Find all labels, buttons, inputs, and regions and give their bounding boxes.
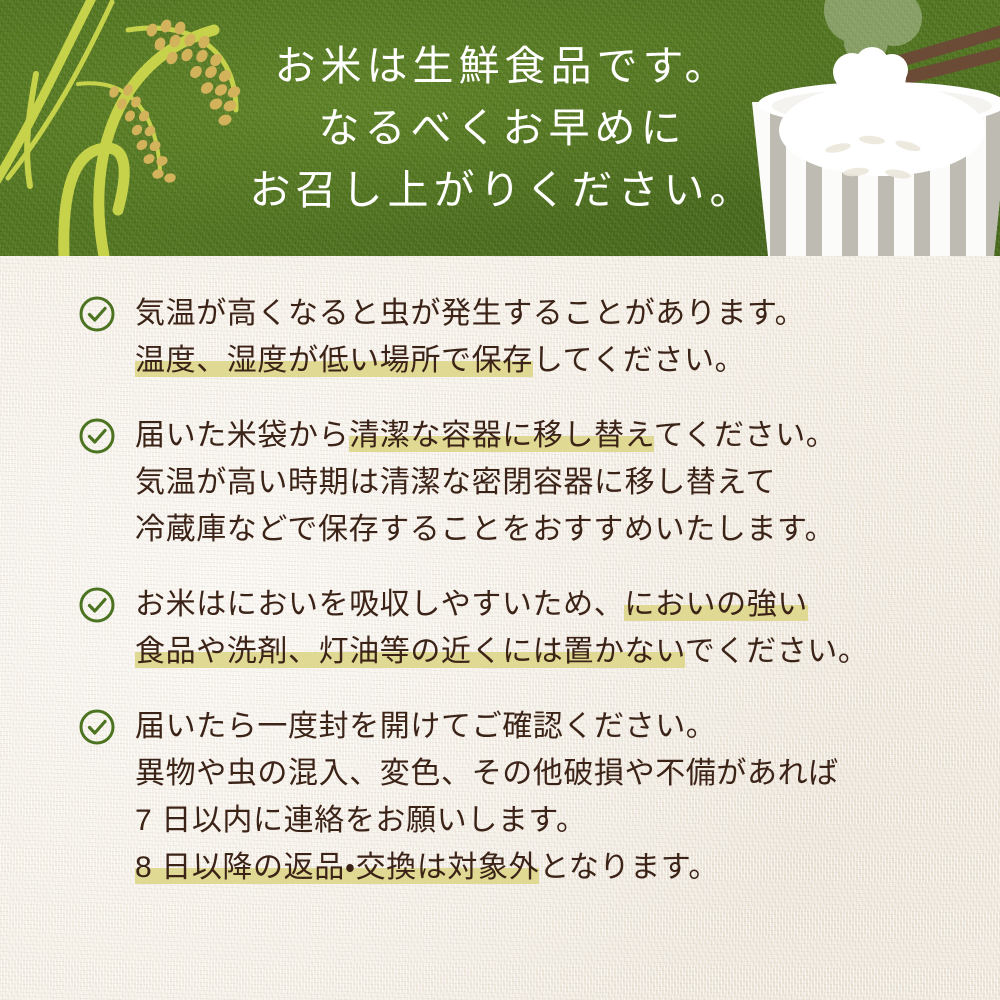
notice-line: 気温が高くなると虫が発生することがあります。 [135, 290, 1000, 337]
highlighted-text: 8 日以降の返品・交換は対象外 [135, 851, 539, 884]
notice-line: 届いたら一度封を開けてご確認ください。 [135, 703, 1000, 750]
notice-text: 気温が高い時期は清潔な密閉容器に移し替えて [135, 466, 776, 499]
notice-text: 冷蔵庫などで保存することをおすすめいたします。 [135, 513, 835, 546]
notice-line: お米はにおいを吸収しやすいため、においの強い [135, 581, 1000, 628]
circle-check-icon [78, 708, 116, 746]
notice-text: となります。 [539, 851, 719, 884]
notice-item: 気温が高くなると虫が発生することがあります。温度、湿度が低い場所で保存してくださ… [0, 290, 1000, 384]
notice-text: 届いたら一度封を開けてご確認ください。 [135, 710, 716, 743]
notice-text: 届いた米袋から [135, 419, 349, 452]
notice-text: してください。 [533, 344, 745, 377]
hero-banner: お米は生鮮食品です。 なるべくお早めに お召し上がりください。 [0, 0, 1000, 256]
notice-line: 温度、湿度が低い場所で保存してください。 [135, 337, 1000, 384]
notice-text: 異物や虫の混入、変色、その他破損や不備があれば [135, 757, 839, 790]
notice-line: 冷蔵庫などで保存することをおすすめいたします。 [135, 506, 1000, 553]
notice-text: てください。 [654, 419, 837, 452]
notice-text: 気温が高くなると虫が発生することがあります。 [135, 297, 805, 330]
highlighted-text: 清潔な容器に移し替え [349, 419, 654, 452]
notice-list: 気温が高くなると虫が発生することがあります。温度、湿度が低い場所で保存してくださ… [0, 256, 1000, 891]
hero-artwork [0, 0, 1000, 256]
notice-text: 7 日以内に連絡をお願いします。 [135, 804, 587, 837]
notice-text: お米はにおいを吸収しやすいため、 [135, 588, 624, 621]
notice-item: 届いた米袋から清潔な容器に移し替えてください。気温が高い時期は清潔な密閉容器に移… [0, 412, 1000, 553]
circle-check-icon [78, 586, 116, 624]
notice-text: でください。 [685, 635, 869, 668]
circle-check-icon [78, 295, 116, 333]
highlighted-text: 食品や洗剤、灯油等の近くには置かない [135, 635, 685, 668]
notice-line: 8 日以降の返品・交換は対象外となります。 [135, 844, 1000, 891]
notice-item: お米はにおいを吸収しやすいため、においの強い食品や洗剤、灯油等の近くには置かない… [0, 581, 1000, 675]
notice-line: 気温が高い時期は清潔な密閉容器に移し替えて [135, 459, 1000, 506]
circle-check-icon [78, 417, 116, 455]
notice-item: 届いたら一度封を開けてご確認ください。異物や虫の混入、変色、その他破損や不備があ… [0, 703, 1000, 891]
rice-storage-notice-graphic: お米は生鮮食品です。 なるべくお早めに お召し上がりください。 気温が高くなると… [0, 0, 1000, 1000]
rice-plant-icon [0, 0, 242, 256]
notice-line: 異物や虫の混入、変色、その他破損や不備があれば [135, 750, 1000, 797]
highlighted-text: においの強い [624, 588, 808, 621]
notice-line: 食品や洗剤、灯油等の近くには置かないでください。 [135, 628, 1000, 675]
highlighted-text: 温度、湿度が低い場所で保存 [135, 344, 533, 377]
notice-line: 7 日以内に連絡をお願いします。 [135, 797, 1000, 844]
notice-line: 届いた米袋から清潔な容器に移し替えてください。 [135, 412, 1000, 459]
rice-bowl-icon [750, 82, 1000, 256]
